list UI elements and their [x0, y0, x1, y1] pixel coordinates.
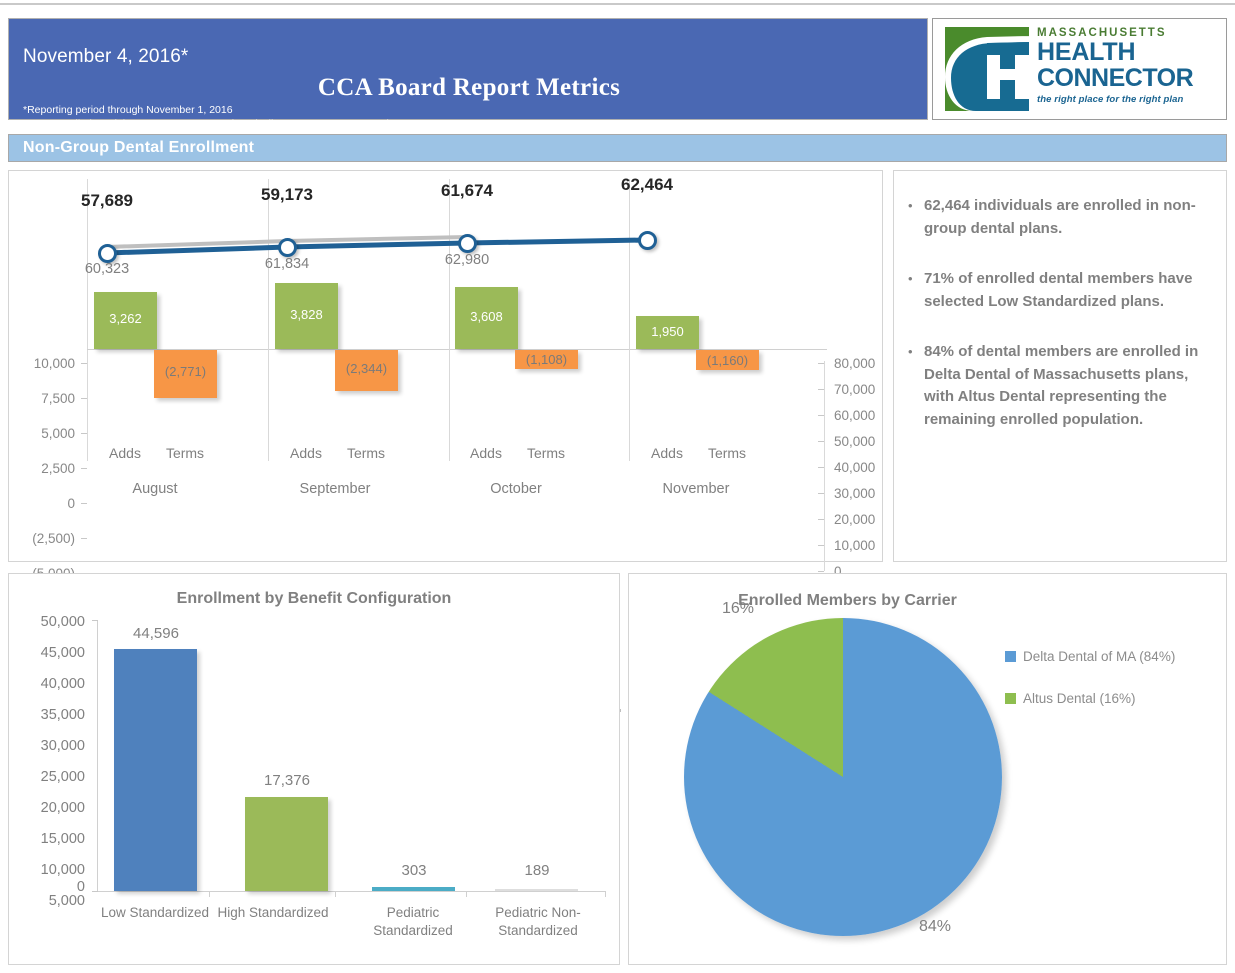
initial-value-october: 62,980: [407, 252, 527, 268]
xcat-terms-august: Terms: [150, 445, 220, 461]
bar-xtick-4: [605, 891, 606, 897]
report-value-november: 62,464: [587, 175, 707, 195]
bar-ytick-1: 45,000: [19, 645, 85, 661]
pie-slices: [684, 618, 1002, 936]
bullet-icon: •: [908, 268, 924, 313]
enrollment-combo-chart-panel: 10,000 7,500 5,000 2,500 0 (2,500) (5,00…: [8, 170, 883, 562]
report-title: CCA Board Report Metrics: [9, 74, 929, 102]
pie-legend-swatch-altus: [1005, 693, 1016, 704]
xmonth-september: September: [265, 481, 405, 497]
report-date: November 4, 2016*: [23, 46, 188, 68]
top-rule: [0, 3, 1235, 5]
bar-cat-pediatric-standardized: Pediatric Standardized: [346, 904, 480, 940]
report-date-line: [107, 240, 647, 253]
note-text-3: 84% of dental members are enrolled in De…: [924, 341, 1208, 431]
line-node-september: [278, 238, 297, 257]
pie-label-delta: 84%: [919, 918, 951, 936]
xcat-terms-november: Terms: [692, 445, 762, 461]
report-value-august: 57,689: [47, 191, 167, 211]
key-takeaways-list: • 62,464 individuals are enrolled in non…: [894, 171, 1226, 431]
bar-ytick-6: 20,000: [19, 800, 85, 816]
logo-tagline: the right place for the right plan: [1037, 94, 1223, 105]
section-header: Non-Group Dental Enrollment: [8, 134, 1227, 162]
bar-ytick-5: 25,000: [19, 769, 85, 785]
bar-value-pediatric-non-standardized: 189: [494, 862, 580, 879]
xcat-terms-september: Terms: [331, 445, 401, 461]
bar-pediatric-non-standardized: [495, 889, 578, 891]
pie-chart: [684, 618, 1004, 936]
bar-ytick-4: 30,000: [19, 738, 85, 754]
bar-ytick-9: 5,000: [19, 893, 85, 909]
benefit-configuration-chart-panel: Enrollment by Benefit Configuration 50,0…: [8, 573, 620, 965]
xmonth-august: August: [85, 481, 225, 497]
bar-ytick-2: 40,000: [19, 676, 85, 692]
list-item: • 71% of enrolled dental members have se…: [908, 268, 1208, 313]
bar-y-axis: [97, 620, 98, 892]
bar-x-axis: [97, 891, 605, 892]
bar-low-standardized: [114, 649, 197, 891]
report-value-october: 61,674: [407, 181, 527, 201]
bar-cat-low-standardized: Low Standardized: [99, 904, 211, 922]
bar-adds-september: 3,828: [275, 283, 338, 349]
bar-cat-high-standardized: High Standardized: [211, 904, 335, 922]
bar-adds-october: 3,608: [455, 287, 518, 349]
bar-high-standardized: [245, 797, 328, 891]
enrollment-combo-chart: 10,000 7,500 5,000 2,500 0 (2,500) (5,00…: [9, 171, 882, 561]
pie-legend-label-delta: Delta Dental of MA (84%): [1023, 649, 1175, 664]
bar-ytick-10: 0: [19, 879, 85, 895]
footnote-source: Source: Dell Financial Management System…: [23, 117, 440, 131]
bar-xtick-1: [209, 891, 210, 897]
list-item: • 84% of dental members are enrolled in …: [908, 341, 1208, 431]
pie-legend-label-altus: Altus Dental (16%): [1023, 691, 1136, 706]
logo-connector: CONNECTOR: [1037, 65, 1223, 91]
bullet-icon: •: [908, 341, 924, 431]
pie-chart-title: Enrolled Members by Carrier: [549, 592, 1146, 610]
note-text-1: 62,464 individuals are enrolled in non-g…: [924, 195, 1208, 240]
note-text-2: 71% of enrolled dental members have sele…: [924, 268, 1208, 313]
report-value-september: 59,173: [227, 185, 347, 205]
xmonth-october: October: [446, 481, 586, 497]
bar-cat-pediatric-non-standardized: Pediatric Non-Standardized: [471, 904, 605, 940]
pie-legend-swatch-delta: [1005, 651, 1016, 662]
bar-pediatric-standardized: [372, 887, 455, 891]
bullet-icon: •: [908, 195, 924, 240]
footnote-reporting-period: *Reporting period through November 1, 20…: [23, 103, 440, 117]
bar-ytick-0: 50,000: [19, 614, 85, 630]
xcat-terms-october: Terms: [511, 445, 581, 461]
carrier-pie-chart-panel: Enrolled Members by Carrier 16% 84% Delt…: [628, 573, 1227, 965]
bar-terms-august: (2,771): [154, 350, 217, 398]
logo-health: HEALTH: [1037, 40, 1223, 65]
bar-terms-september: (2,344): [335, 350, 398, 391]
initial-value-september: 61,834: [227, 256, 347, 272]
bar-terms-november: (1,160): [696, 350, 759, 370]
health-connector-logo: MASSACHUSETTS HEALTH CONNECTOR the right…: [932, 18, 1227, 120]
pie-label-altus: 16%: [722, 600, 754, 618]
connector-h-mark-icon: [943, 25, 1031, 113]
bar-value-pediatric-standardized: 303: [371, 862, 457, 879]
bar-value-high-standardized: 17,376: [244, 772, 330, 789]
bar-ytick-3: 35,000: [19, 707, 85, 723]
combo-tick-r8: [818, 571, 824, 572]
bar-terms-october: (1,108): [515, 350, 578, 369]
logo-wordmark: MASSACHUSETTS HEALTH CONNECTOR the right…: [1037, 27, 1223, 105]
pie-legend-item-altus[interactable]: Altus Dental (16%): [1005, 691, 1136, 706]
benefit-chart-title: Enrollment by Benefit Configuration: [9, 590, 619, 608]
bar-adds-november: 1,950: [636, 316, 699, 349]
pie-legend-item-delta[interactable]: Delta Dental of MA (84%): [1005, 649, 1175, 664]
report-page: November 4, 2016* CCA Board Report Metri…: [0, 0, 1235, 973]
initial-value-august: 60,323: [47, 261, 167, 277]
bar-ytick-7: 15,000: [19, 831, 85, 847]
title-band: November 4, 2016* CCA Board Report Metri…: [8, 18, 928, 120]
bar-adds-august: 3,262: [94, 292, 157, 349]
line-node-november: [638, 231, 657, 250]
list-item: • 62,464 individuals are enrolled in non…: [908, 195, 1208, 240]
bar-value-low-standardized: 44,596: [113, 625, 199, 642]
report-footnotes: *Reporting period through November 1, 20…: [23, 103, 440, 131]
bar-xtick-2: [335, 891, 336, 897]
bar-tick-10: [92, 891, 98, 892]
bar-xtick-3: [466, 891, 467, 897]
line-node-october: [458, 234, 477, 253]
bar-tick-0: [92, 620, 98, 621]
xmonth-november: November: [626, 481, 766, 497]
bar-ytick-8: 10,000: [19, 862, 85, 878]
key-takeaways-panel: • 62,464 individuals are enrolled in non…: [893, 170, 1227, 562]
